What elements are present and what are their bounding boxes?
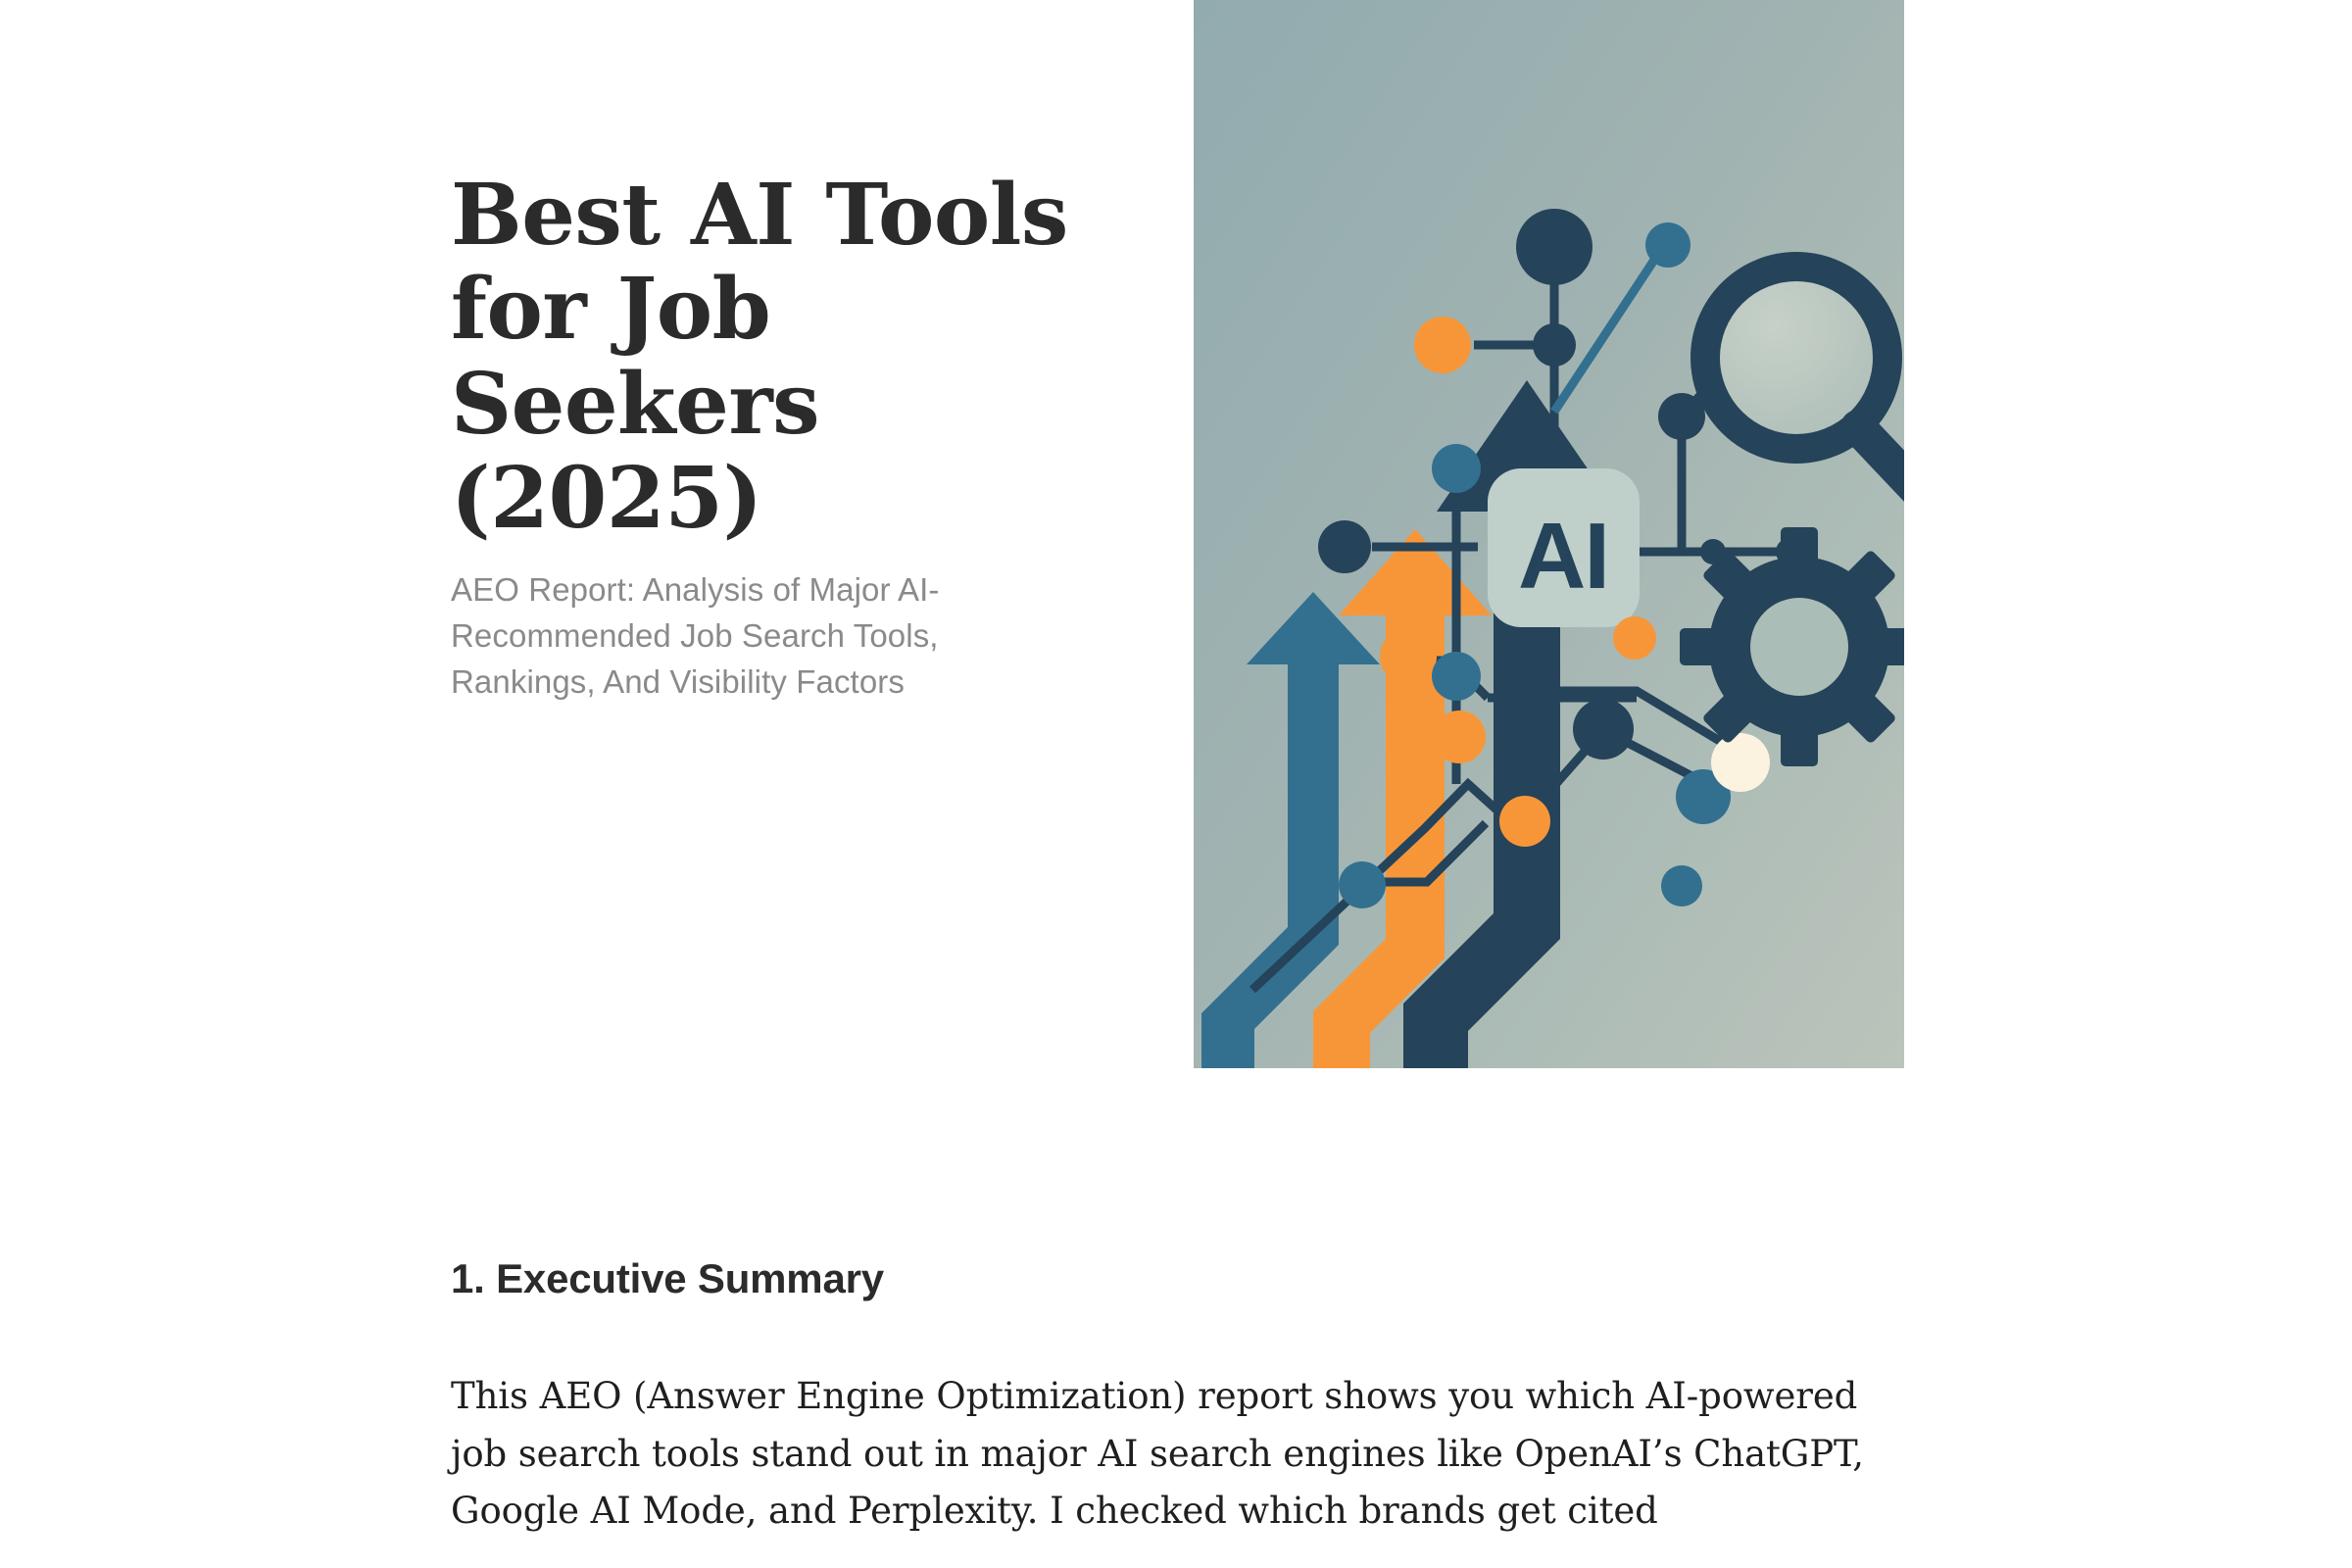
section-heading-executive-summary: 1. Executive Summary xyxy=(451,1254,1921,1303)
section-paragraph-executive-summary: This AEO (Answer Engine Optimization) re… xyxy=(451,1368,1921,1540)
title-column: Best AI Tools for Job Seekers (2025) AEO… xyxy=(451,169,1078,706)
hero-illustration: AI xyxy=(1194,0,1904,1068)
page-title: Best AI Tools for Job Seekers (2025) xyxy=(451,169,1078,546)
main-content: 1. Executive Summary This AEO (Answer En… xyxy=(451,1254,1921,1541)
hero-section: Best AI Tools for Job Seekers (2025) AEO… xyxy=(0,0,2352,1068)
document-page: Best AI Tools for Job Seekers (2025) AEO… xyxy=(0,0,2352,1568)
page-subtitle: AEO Report: Analysis of Major AI-Recomme… xyxy=(451,567,1078,706)
